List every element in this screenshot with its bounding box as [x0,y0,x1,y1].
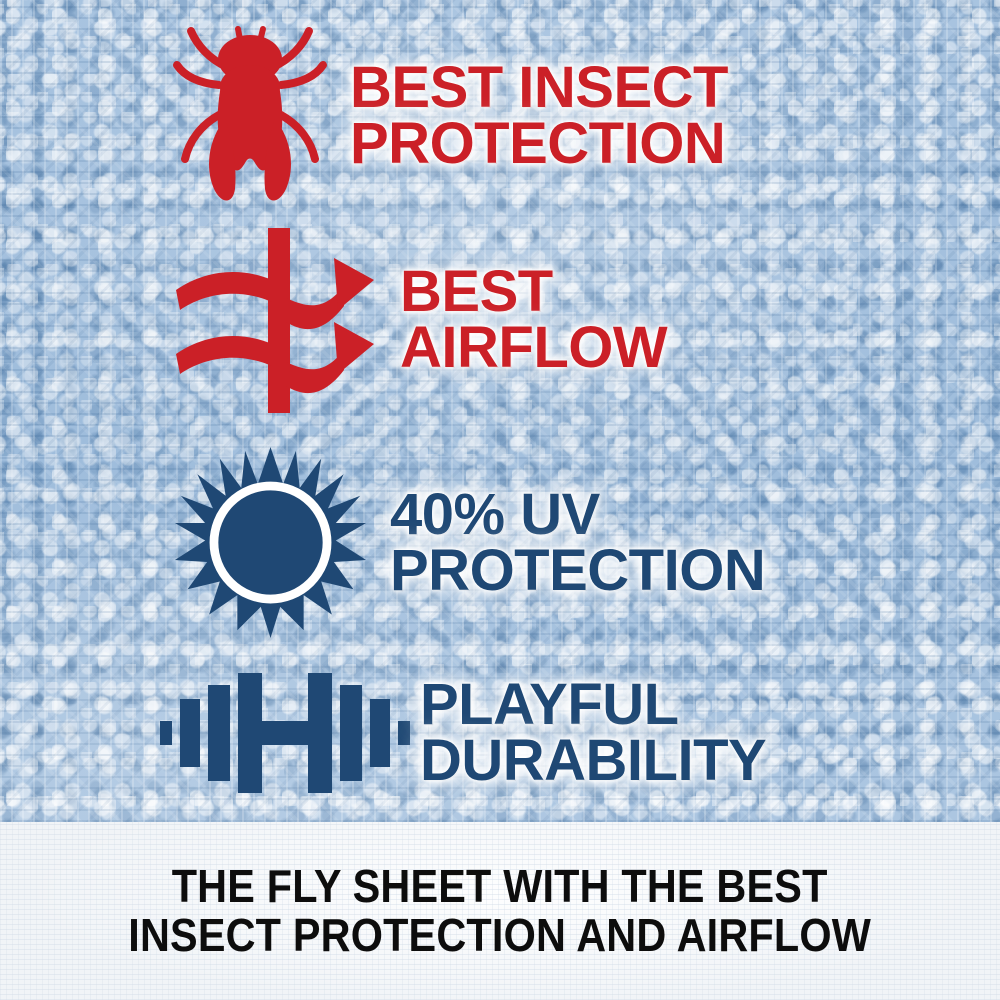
fly-icon [150,23,350,208]
caption-text: THE FLY SHEET WITH THE BEST INSECT PROTE… [129,862,872,960]
feature-row-durability: PLAYFUL DURABILITY [150,650,990,815]
dumbbell-icon [150,663,420,803]
feature-label-uv-protection: 40% UV PROTECTION [390,487,765,598]
feature-row-uv-protection: 40% UV PROTECTION [150,440,990,645]
caption-band: THE FLY SHEET WITH THE BEST INSECT PROTE… [0,822,1000,1000]
feature-label-insect-protection: BEST INSECT PROTECTION [350,60,728,171]
poster-root: BEST INSECT PROTECTION [0,0,1000,1000]
airflow-arrows-icon [150,228,400,413]
feature-row-airflow: BEST AIRFLOW [150,225,990,415]
feature-label-durability: PLAYFUL DURABILITY [420,677,766,788]
feature-row-insect-protection: BEST INSECT PROTECTION [150,18,990,213]
sun-icon [150,445,390,640]
feature-label-airflow: BEST AIRFLOW [400,264,667,375]
